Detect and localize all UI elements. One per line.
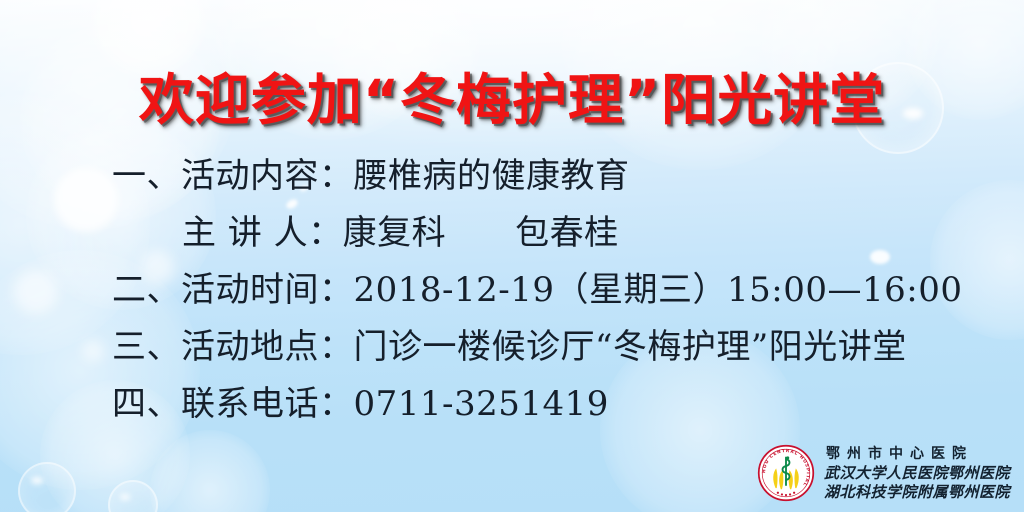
hospital-name-secondary: 武汉大学人民医院鄂州医院 <box>824 464 1010 483</box>
bubble-highlight <box>31 477 43 484</box>
hospital-name-block: 鄂州市中心医院 武汉大学人民医院鄂州医院 湖北科技学院附属鄂州医院 <box>824 445 1010 502</box>
info-line-location: 三、活动地点：门诊一楼候诊厅“冬梅护理”阳光讲堂 <box>112 319 972 376</box>
info-line-phone: 四、联系电话：0711-3251419 <box>112 376 972 433</box>
hospital-footer: EZHOU CENTRAL HOSPITAL 鄂州市中心医院 <box>757 444 1010 502</box>
poster-canvas: 欢迎参加“冬梅护理”阳光讲堂 一、活动内容：腰椎病的健康教育 主 讲 人：康复科… <box>0 0 1024 512</box>
hospital-name-tertiary: 湖北科技学院附属鄂州医院 <box>824 483 1010 502</box>
bubble-highlight <box>120 494 130 500</box>
announcement-body: 一、活动内容：腰椎病的健康教育 主 讲 人：康复科 包春桂 二、活动时间：201… <box>112 148 972 433</box>
bokeh-circle <box>14 270 58 314</box>
info-line-content: 一、活动内容：腰椎病的健康教育 <box>112 148 972 205</box>
hospital-emblem-icon: EZHOU CENTRAL HOSPITAL <box>757 444 815 502</box>
bubble-ring <box>108 480 158 512</box>
bubble-ring <box>18 462 76 512</box>
info-line-speaker: 主 讲 人：康复科 包春桂 <box>112 205 972 262</box>
info-line-time: 二、活动时间：2018-12-19（星期三）15:00—16:00 <box>112 262 972 319</box>
hospital-name-primary: 鄂州市中心医院 <box>824 445 1010 464</box>
page-title: 欢迎参加“冬梅护理”阳光讲堂 <box>139 67 885 133</box>
bokeh-circle <box>54 168 118 232</box>
bokeh-circle <box>82 340 104 362</box>
bokeh-circle <box>150 430 270 512</box>
